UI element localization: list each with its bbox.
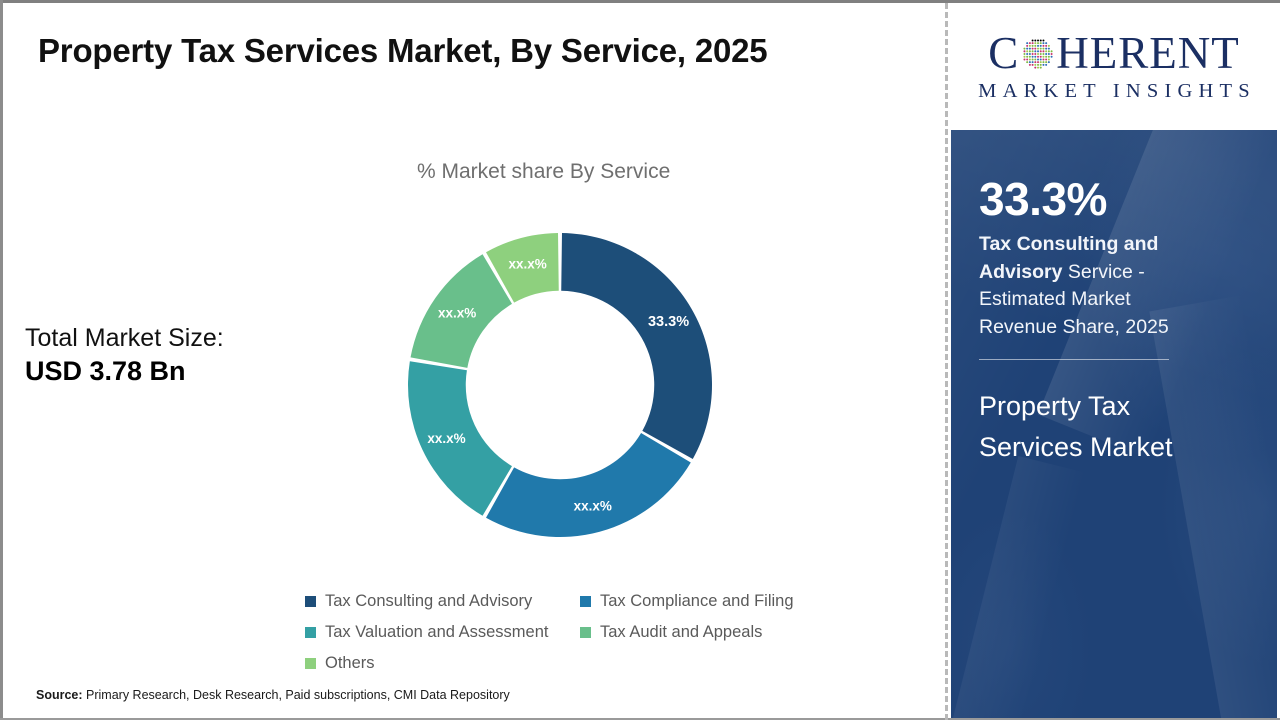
donut-chart: 33.3%xx.x%xx.x%xx.x%xx.x%	[400, 225, 720, 545]
source-text: Primary Research, Desk Research, Paid su…	[83, 688, 510, 702]
company-logo: C HERENT MARKET INSIGHTS	[951, 3, 1277, 130]
legend-item-tax-audit-and-appeals[interactable]: Tax Audit and Appeals	[580, 623, 762, 642]
chart-subtitle: % Market share By Service	[417, 160, 670, 184]
logo-letter-c: C	[988, 31, 1019, 76]
donut-slice-label: xx.x%	[427, 431, 465, 446]
donut-slice-label: xx.x%	[574, 499, 612, 514]
logo-tagline: MARKET INSIGHTS	[966, 80, 1262, 103]
donut-slice-group	[408, 233, 712, 537]
legend-swatch-icon	[580, 596, 591, 607]
legend-label: Others	[325, 654, 375, 673]
legend-item-tax-valuation-and-assessment[interactable]: Tax Valuation and Assessment	[305, 623, 580, 642]
legend-item-tax-consulting-and-advisory[interactable]: Tax Consulting and Advisory	[305, 592, 580, 611]
legend-row: Tax Consulting and Advisory Tax Complian…	[305, 586, 805, 617]
donut-slice[interactable]	[561, 233, 712, 459]
total-market-size: Total Market Size: USD 3.78 Bn	[25, 323, 224, 388]
logo-wordmark-rest: HERENT	[1056, 31, 1239, 76]
chart-legend: Tax Consulting and Advisory Tax Complian…	[305, 586, 805, 679]
donut-chart-svg: 33.3%xx.x%xx.x%xx.x%xx.x%	[400, 225, 720, 545]
donut-slice[interactable]	[486, 433, 691, 537]
source-label: Source:	[36, 688, 83, 702]
source-note: Source: Primary Research, Desk Research,…	[36, 688, 510, 702]
donut-slice-label: xx.x%	[509, 256, 547, 271]
legend-label: Tax Valuation and Assessment	[325, 623, 549, 642]
total-market-size-value: USD 3.78 Bn	[25, 354, 224, 389]
donut-slice-label: 33.3%	[648, 314, 689, 330]
highlight-percentage: 33.3%	[979, 176, 1249, 222]
donut-slice-label: xx.x%	[438, 306, 476, 321]
vertical-dashed-divider	[945, 3, 948, 720]
page-title: Property Tax Services Market, By Service…	[38, 32, 767, 70]
legend-label: Tax Consulting and Advisory	[325, 592, 532, 611]
legend-swatch-icon	[305, 596, 316, 607]
legend-item-tax-compliance-and-filing[interactable]: Tax Compliance and Filing	[580, 592, 794, 611]
total-market-size-label: Total Market Size:	[25, 323, 224, 354]
legend-label: Tax Audit and Appeals	[600, 623, 762, 642]
infographic-slide: Property Tax Services Market, By Service…	[0, 0, 1280, 720]
left-border	[0, 0, 3, 720]
globe-icon	[1020, 36, 1055, 71]
legend-swatch-icon	[305, 658, 316, 669]
sidebar-texture-streak	[951, 456, 1086, 718]
legend-row: Others	[305, 648, 805, 679]
logo-wordmark: C HERENT	[966, 31, 1262, 76]
highlight-sidebar: 33.3% Tax Consulting and Advisory Servic…	[951, 130, 1277, 718]
highlight-description: Tax Consulting and Advisory Service - Es…	[979, 231, 1209, 342]
legend-row: Tax Valuation and Assessment Tax Audit a…	[305, 617, 805, 648]
legend-label: Tax Compliance and Filing	[600, 592, 794, 611]
sidebar-market-name: Property Tax Services Market	[979, 386, 1189, 468]
sidebar-divider-rule	[979, 359, 1169, 360]
legend-swatch-icon	[580, 627, 591, 638]
legend-swatch-icon	[305, 627, 316, 638]
legend-item-others[interactable]: Others	[305, 654, 580, 673]
